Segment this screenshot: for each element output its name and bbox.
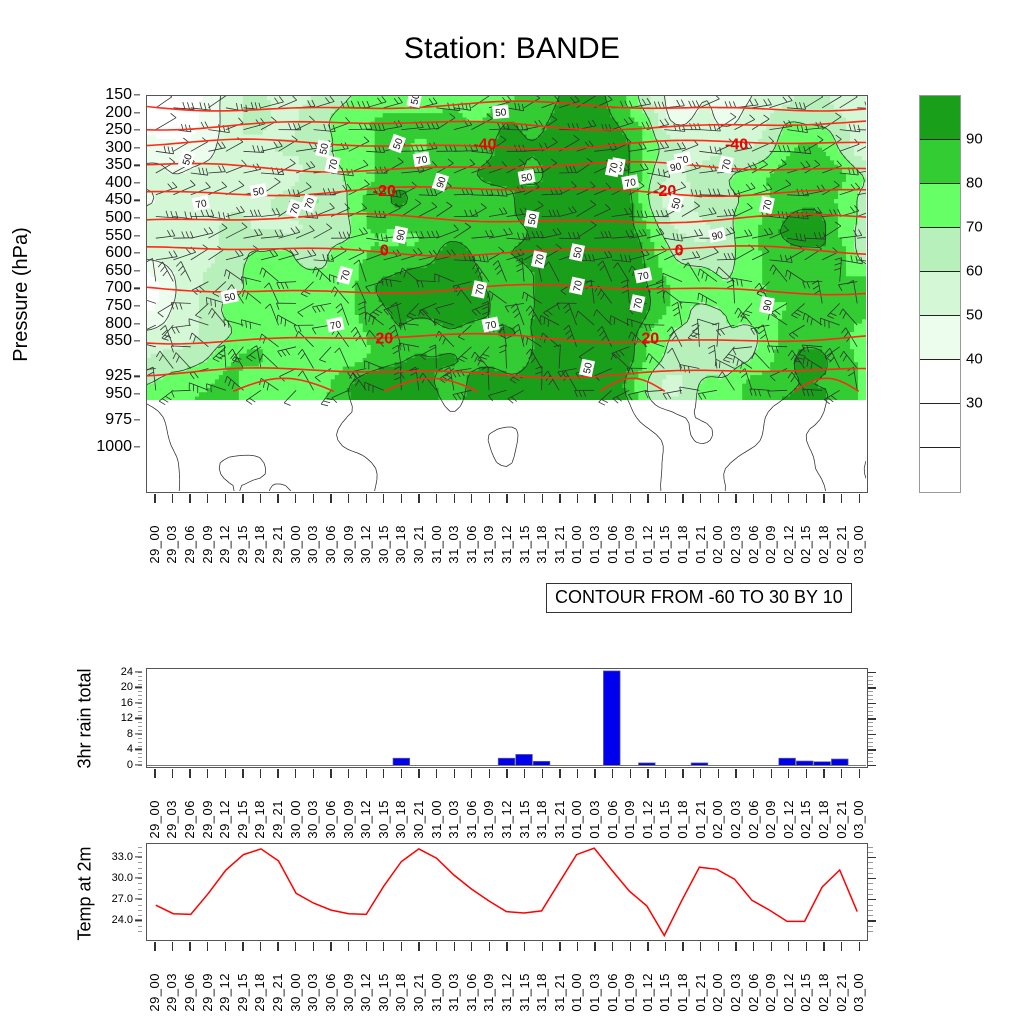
x-tick-mark xyxy=(366,494,367,503)
temp-right-tick xyxy=(868,873,873,874)
x-tick-mark xyxy=(471,494,472,503)
colorbar-band xyxy=(920,184,960,228)
x-tick-mark xyxy=(806,494,807,503)
x-tick-mark xyxy=(401,942,402,951)
x-tick-label: 31_00 xyxy=(430,525,443,564)
x-tick-mark xyxy=(788,494,789,503)
x-tick-label: 02_21 xyxy=(835,800,848,839)
x-tick-mark xyxy=(753,769,754,778)
rain-tick-label: 0 xyxy=(127,759,133,771)
x-tick-label: 31_12 xyxy=(500,525,513,564)
colorbar-tick-label: 90 xyxy=(966,131,983,148)
x-tick-label: 30_18 xyxy=(394,973,407,1012)
x-tick-mark xyxy=(823,769,824,778)
rain-right-tick xyxy=(868,742,873,743)
x-tick-label: 02_00 xyxy=(711,525,724,564)
rain-tick-mark xyxy=(135,764,142,765)
x-tick-label: 01_03 xyxy=(588,525,601,564)
rain-y-axis-title-text: 3hr rain total xyxy=(75,668,96,768)
x-tick-mark xyxy=(542,942,543,951)
x-tick-label: 01_03 xyxy=(588,973,601,1012)
x-tick-label: 02_18 xyxy=(817,525,830,564)
x-tick-mark xyxy=(383,942,384,951)
x-tick-mark xyxy=(682,942,683,951)
x-tick-label: 29_06 xyxy=(183,800,196,839)
main-y-axis-title-text: Pressure (hPa) xyxy=(10,227,33,362)
pressure-tick-label: 550 xyxy=(105,227,132,245)
temp-line-plot xyxy=(147,844,866,939)
x-tick-label: 29_09 xyxy=(201,800,214,839)
x-tick-mark xyxy=(506,769,507,778)
x-tick-mark xyxy=(260,942,261,951)
x-tick-mark xyxy=(859,942,860,951)
humidity-cross-section-panel: -40-40-20-200020205050505050505050505050… xyxy=(146,95,868,493)
x-tick-mark xyxy=(735,494,736,503)
x-tick-mark xyxy=(577,942,578,951)
temp-right-tick xyxy=(868,852,873,853)
x-tick-label: 01_00 xyxy=(570,800,583,839)
x-tick-mark xyxy=(260,494,261,503)
pressure-tick-label: 925 xyxy=(105,367,132,385)
x-tick-mark xyxy=(735,769,736,778)
rain-tick-label: 16 xyxy=(121,697,133,709)
rain-right-tick xyxy=(868,761,873,762)
pressure-tick-label: 700 xyxy=(105,279,132,297)
rain-right-tick xyxy=(868,738,873,739)
x-tick-mark xyxy=(277,769,278,778)
rain-right-tick xyxy=(868,753,873,754)
x-tick-label: 01_09 xyxy=(623,525,636,564)
colorbar-band xyxy=(920,96,960,140)
x-tick-mark xyxy=(630,494,631,503)
colorbar-band xyxy=(920,316,960,360)
x-tick-label: 31_21 xyxy=(553,973,566,1012)
temp-panel xyxy=(146,843,868,941)
x-tick-label: 31_03 xyxy=(447,525,460,564)
rain-tick-mark xyxy=(135,718,142,719)
x-tick-mark xyxy=(859,769,860,778)
x-tick-label: 29_21 xyxy=(271,973,284,1012)
x-tick-label: 31_06 xyxy=(465,525,478,564)
x-tick-label: 30_18 xyxy=(394,800,407,839)
x-tick-mark xyxy=(771,769,772,778)
x-tick-label: 02_00 xyxy=(711,973,724,1012)
x-tick-mark xyxy=(506,494,507,503)
rain-right-tick xyxy=(868,695,873,696)
rain-right-tick xyxy=(868,746,873,747)
x-tick-label: 02_18 xyxy=(817,800,830,839)
x-tick-mark xyxy=(823,942,824,951)
x-tick-label: 29_15 xyxy=(236,973,249,1012)
x-tick-mark xyxy=(366,942,367,951)
temp-right-tick xyxy=(868,862,873,863)
x-tick-label: 31_15 xyxy=(518,973,531,1012)
colorbar-band xyxy=(920,360,960,404)
x-tick-mark xyxy=(647,769,648,778)
rain-tick-label: 24 xyxy=(121,666,133,678)
x-tick-mark xyxy=(454,942,455,951)
rain-y-axis-title: 3hr rain total xyxy=(72,655,98,781)
temp-right-tick xyxy=(868,847,873,848)
x-tick-mark xyxy=(489,942,490,951)
temp-y-axis-title-text: Temp at 2m xyxy=(75,846,96,940)
pressure-tick-mark xyxy=(134,235,140,236)
x-tick-mark xyxy=(471,769,472,778)
colorbar-tick-label: 30 xyxy=(966,395,983,412)
x-tick-label: 29_09 xyxy=(201,973,214,1012)
x-tick-label: 01_12 xyxy=(641,800,654,839)
rain-right-tick xyxy=(868,699,873,700)
temp-tick-mark xyxy=(135,920,142,921)
pressure-tick-mark xyxy=(134,288,140,289)
temp-right-tick xyxy=(868,926,873,927)
x-tick-label: 29_03 xyxy=(165,973,178,1012)
x-tick-mark xyxy=(771,494,772,503)
x-tick-mark xyxy=(823,494,824,503)
pressure-tick-mark xyxy=(134,112,140,113)
x-tick-label: 02_12 xyxy=(782,800,795,839)
x-tick-label: 31_06 xyxy=(465,973,478,1012)
x-tick-label: 30_15 xyxy=(377,800,390,839)
x-tick-label: 01_00 xyxy=(570,973,583,1012)
x-tick-label: 30_09 xyxy=(342,973,355,1012)
colorbar-band xyxy=(920,404,960,448)
x-tick-label: 30_15 xyxy=(377,525,390,564)
pressure-tick-mark xyxy=(134,419,140,420)
temp-right-tick xyxy=(868,931,873,932)
colorbar-band xyxy=(920,140,960,184)
x-tick-label: 29_15 xyxy=(236,525,249,564)
rain-tick-mark xyxy=(135,671,142,672)
colorbar-tick-label: 50 xyxy=(966,307,983,324)
pressure-tick-label: 800 xyxy=(105,315,132,333)
pressure-tick-label: 950 xyxy=(105,385,132,403)
x-tick-mark xyxy=(542,769,543,778)
x-tick-label: 31_18 xyxy=(535,973,548,1012)
pressure-tick-label: 750 xyxy=(105,297,132,315)
temp-tick-mark xyxy=(135,856,142,857)
humidity-colorbar xyxy=(919,95,961,493)
rain-right-tick xyxy=(868,715,873,716)
rain-right-tick xyxy=(868,676,873,677)
x-tick-mark xyxy=(172,942,173,951)
x-tick-mark xyxy=(154,942,155,951)
x-tick-mark xyxy=(295,942,296,951)
x-tick-mark xyxy=(841,769,842,778)
x-tick-label: 30_12 xyxy=(359,973,372,1012)
pressure-tick-label: 450 xyxy=(105,191,132,209)
x-tick-label: 01_06 xyxy=(606,973,619,1012)
x-tick-mark xyxy=(348,942,349,951)
rain-panel xyxy=(146,668,868,768)
x-tick-mark xyxy=(630,769,631,778)
x-tick-label: 02_09 xyxy=(764,800,777,839)
x-tick-mark xyxy=(348,494,349,503)
x-tick-mark xyxy=(594,494,595,503)
pressure-tick-label: 350 xyxy=(105,156,132,174)
x-tick-mark xyxy=(859,494,860,503)
x-tick-mark xyxy=(718,494,719,503)
chart-page: Station: BANDE Pressure (hPa) 1502002503… xyxy=(0,0,1024,1024)
colorbar-tick-label: 60 xyxy=(966,263,983,280)
x-tick-mark xyxy=(295,769,296,778)
x-tick-mark xyxy=(418,769,419,778)
x-tick-label: 03_00 xyxy=(852,800,865,839)
temp-tick-label: 30.0 xyxy=(112,872,133,884)
temp-tick-mark xyxy=(135,899,142,900)
x-tick-mark xyxy=(189,942,190,951)
x-tick-label: 30_06 xyxy=(324,800,337,839)
x-tick-label: 31_15 xyxy=(518,525,531,564)
pressure-tick-mark xyxy=(134,182,140,183)
x-tick-mark xyxy=(418,942,419,951)
x-tick-mark xyxy=(295,494,296,503)
x-tick-mark xyxy=(436,769,437,778)
x-tick-label: 29_00 xyxy=(148,525,161,564)
pressure-tick-mark xyxy=(134,165,140,166)
x-tick-mark xyxy=(313,494,314,503)
x-tick-mark xyxy=(383,769,384,778)
x-tick-mark xyxy=(454,494,455,503)
x-tick-label: 31_18 xyxy=(535,525,548,564)
x-tick-mark xyxy=(401,494,402,503)
contour-legend: CONTOUR FROM -60 TO 30 BY 10 xyxy=(546,583,852,613)
temp-tick-mark xyxy=(135,878,142,879)
pressure-tick-label: 975 xyxy=(105,411,132,429)
temp-right-tick xyxy=(868,899,876,900)
temp-right-tick xyxy=(868,915,873,916)
x-tick-mark xyxy=(524,942,525,951)
pressure-tick-label: 150 xyxy=(105,86,132,104)
x-tick-label: 30_09 xyxy=(342,525,355,564)
rain-x-axis: 29_0029_0329_0629_0929_1229_1529_1829_21… xyxy=(146,769,868,839)
x-tick-label: 01_21 xyxy=(694,525,707,564)
x-tick-mark xyxy=(612,942,613,951)
x-tick-mark xyxy=(207,769,208,778)
x-tick-label: 30_12 xyxy=(359,800,372,839)
x-tick-label: 29_12 xyxy=(218,800,231,839)
x-tick-label: 02_18 xyxy=(817,973,830,1012)
rain-tick-label: 4 xyxy=(127,743,133,755)
pressure-tick-label: 250 xyxy=(105,121,132,139)
temp-right-tick xyxy=(868,889,873,890)
x-tick-mark xyxy=(489,769,490,778)
x-tick-mark xyxy=(225,494,226,503)
x-tick-mark xyxy=(401,769,402,778)
rain-tick-mark xyxy=(135,702,142,703)
rain-right-tick xyxy=(868,722,873,723)
temp-right-tick xyxy=(868,894,873,895)
pressure-tick-mark xyxy=(134,393,140,394)
x-tick-mark xyxy=(841,942,842,951)
pressure-tick-label: 600 xyxy=(105,244,132,262)
x-tick-mark xyxy=(771,942,772,951)
x-tick-label: 30_18 xyxy=(394,525,407,564)
temp-right-tick xyxy=(868,910,873,911)
x-tick-mark xyxy=(207,942,208,951)
cross-section-plot: -40-40-20-200020205050505050505050505050… xyxy=(147,96,866,491)
x-tick-label: 30_03 xyxy=(306,525,319,564)
rain-right-tick xyxy=(868,757,873,758)
x-tick-mark xyxy=(700,769,701,778)
x-tick-label: 31_09 xyxy=(482,973,495,1012)
x-tick-label: 31_15 xyxy=(518,800,531,839)
pressure-tick-label: 1000 xyxy=(96,438,132,456)
colorbar-band xyxy=(920,228,960,272)
x-tick-label: 02_06 xyxy=(747,525,760,564)
x-tick-label: 01_18 xyxy=(676,973,689,1012)
x-tick-mark xyxy=(665,942,666,951)
pressure-tick-mark xyxy=(134,217,140,218)
x-tick-label: 01_18 xyxy=(676,800,689,839)
x-tick-label: 02_09 xyxy=(764,973,777,1012)
x-tick-mark xyxy=(647,494,648,503)
pressure-tick-mark xyxy=(134,446,140,447)
x-tick-label: 30_00 xyxy=(289,800,302,839)
rain-bar-plot xyxy=(147,669,866,766)
x-tick-mark xyxy=(577,769,578,778)
x-tick-mark xyxy=(418,494,419,503)
x-tick-mark xyxy=(788,942,789,951)
x-tick-mark xyxy=(225,942,226,951)
x-tick-mark xyxy=(841,494,842,503)
x-tick-label: 01_18 xyxy=(676,525,689,564)
x-tick-label: 01_21 xyxy=(694,973,707,1012)
colorbar-tick-label: 40 xyxy=(966,351,983,368)
x-tick-label: 02_09 xyxy=(764,525,777,564)
x-tick-label: 01_15 xyxy=(658,525,671,564)
x-tick-mark xyxy=(718,769,719,778)
x-tick-mark xyxy=(806,769,807,778)
x-tick-label: 31_12 xyxy=(500,973,513,1012)
x-tick-label: 01_15 xyxy=(658,973,671,1012)
x-tick-mark xyxy=(277,942,278,951)
x-tick-mark xyxy=(665,769,666,778)
x-tick-label: 31_09 xyxy=(482,525,495,564)
rain-right-tick xyxy=(868,672,876,673)
x-tick-mark xyxy=(436,942,437,951)
rain-right-tick xyxy=(868,691,873,692)
pressure-tick-label: 500 xyxy=(105,209,132,227)
x-tick-mark xyxy=(330,942,331,951)
colorbar-tick-label: 80 xyxy=(966,175,983,192)
x-tick-mark xyxy=(665,494,666,503)
x-tick-label: 30_00 xyxy=(289,973,302,1012)
x-tick-mark xyxy=(242,494,243,503)
x-tick-mark xyxy=(594,942,595,951)
pressure-tick-mark xyxy=(134,253,140,254)
x-tick-label: 31_00 xyxy=(430,973,443,1012)
x-tick-label: 30_03 xyxy=(306,800,319,839)
x-tick-label: 29_21 xyxy=(271,525,284,564)
x-tick-label: 31_09 xyxy=(482,800,495,839)
pressure-tick-mark xyxy=(134,129,140,130)
x-tick-mark xyxy=(277,494,278,503)
rain-right-tick xyxy=(868,726,873,727)
x-tick-mark xyxy=(594,769,595,778)
x-tick-label: 01_06 xyxy=(606,800,619,839)
temp-right-ticks xyxy=(868,843,882,941)
x-tick-label: 01_12 xyxy=(641,973,654,1012)
x-tick-mark xyxy=(172,769,173,778)
temp-right-tick xyxy=(868,883,873,884)
x-tick-mark xyxy=(753,494,754,503)
x-tick-label: 29_12 xyxy=(218,973,231,1012)
x-tick-label: 29_12 xyxy=(218,525,231,564)
x-tick-label: 29_09 xyxy=(201,525,214,564)
x-tick-label: 02_12 xyxy=(782,973,795,1012)
temp-right-tick xyxy=(868,878,876,879)
rain-tick-mark xyxy=(135,749,142,750)
x-tick-mark xyxy=(806,942,807,951)
temp-tick-label: 33.0 xyxy=(112,851,133,863)
x-tick-label: 01_03 xyxy=(588,800,601,839)
rain-right-tick xyxy=(868,711,873,712)
x-tick-mark xyxy=(489,494,490,503)
x-tick-label: 03_00 xyxy=(852,973,865,1012)
x-tick-label: 01_00 xyxy=(570,525,583,564)
temp-y-axis: 24.027.030.033.0 xyxy=(96,843,142,941)
x-tick-label: 02_03 xyxy=(729,973,742,1012)
x-tick-label: 29_00 xyxy=(148,800,161,839)
x-tick-mark xyxy=(330,769,331,778)
x-tick-label: 29_15 xyxy=(236,800,249,839)
x-tick-label: 31_00 xyxy=(430,800,443,839)
x-tick-mark xyxy=(612,769,613,778)
rain-right-ticks xyxy=(868,668,882,768)
x-tick-mark xyxy=(348,769,349,778)
pressure-tick-label: 300 xyxy=(105,139,132,157)
x-tick-label: 29_06 xyxy=(183,973,196,1012)
x-tick-label: 31_03 xyxy=(447,800,460,839)
x-tick-mark xyxy=(189,769,190,778)
x-tick-mark xyxy=(313,942,314,951)
x-tick-label: 02_12 xyxy=(782,525,795,564)
pressure-tick-mark xyxy=(134,147,140,148)
x-tick-mark xyxy=(260,769,261,778)
x-tick-mark xyxy=(612,494,613,503)
pressure-tick-mark xyxy=(134,305,140,306)
rain-right-tick xyxy=(868,703,876,704)
page-title: Station: BANDE xyxy=(0,32,1024,66)
x-tick-label: 30_15 xyxy=(377,973,390,1012)
x-tick-mark xyxy=(242,942,243,951)
x-tick-label: 01_09 xyxy=(623,800,636,839)
x-tick-mark xyxy=(172,494,173,503)
x-tick-mark xyxy=(682,769,683,778)
rain-right-tick xyxy=(868,707,873,708)
x-tick-label: 30_12 xyxy=(359,525,372,564)
main-y-axis-title: Pressure (hPa) xyxy=(8,95,34,493)
x-tick-label: 01_12 xyxy=(641,525,654,564)
x-tick-label: 29_00 xyxy=(148,973,161,1012)
x-tick-mark xyxy=(506,942,507,951)
x-tick-label: 30_21 xyxy=(412,800,425,839)
temp-tick-label: 27.0 xyxy=(112,893,133,905)
rain-tick-mark xyxy=(135,687,142,688)
x-tick-mark xyxy=(436,494,437,503)
temp-x-axis: 29_0029_0329_0629_0929_1229_1529_1829_21… xyxy=(146,942,868,1012)
x-tick-mark xyxy=(454,769,455,778)
humidity-colorbar-labels: 90807060504030 xyxy=(966,95,1022,493)
x-tick-mark xyxy=(313,769,314,778)
pressure-tick-label: 650 xyxy=(105,262,132,280)
pressure-tick-mark xyxy=(134,323,140,324)
x-tick-label: 29_18 xyxy=(253,973,266,1012)
x-tick-label: 02_06 xyxy=(747,800,760,839)
x-tick-mark xyxy=(577,494,578,503)
x-tick-label: 29_18 xyxy=(253,525,266,564)
